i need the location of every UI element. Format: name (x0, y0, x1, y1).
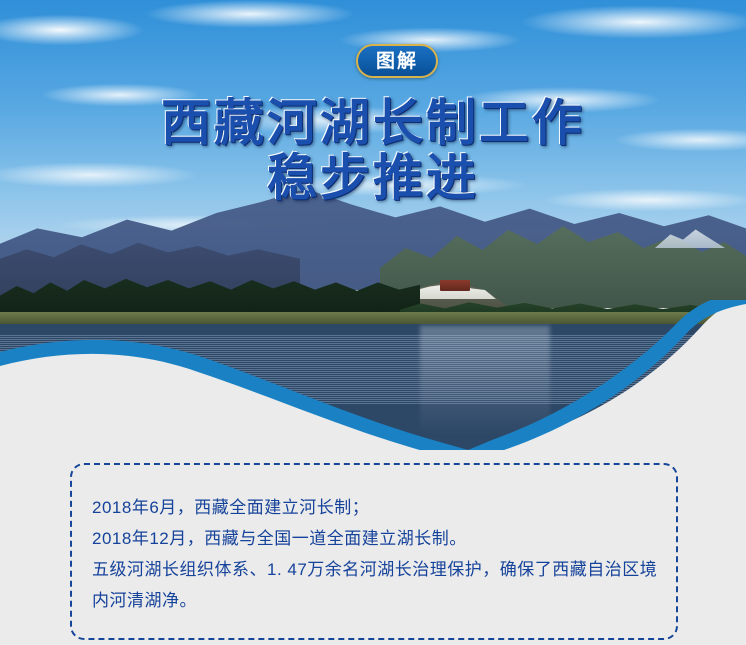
tujie-badge[interactable]: 图解 (356, 44, 438, 78)
potala-palace-red-wing (440, 280, 470, 291)
infographic-poster: 图解 西藏河湖长制工作 稳步推进 2018年6月，西藏全面建立河长制； 2018… (0, 0, 746, 645)
summary-line-1: 2018年6月，西藏全面建立河长制； (92, 492, 668, 523)
page-title: 西藏河湖长制工作 稳步推进 (0, 96, 746, 206)
summary-line-3: 五级河湖长组织体系、1. 47万余名河湖长治理保护，确保了西藏自治区境内河清湖净… (92, 554, 668, 616)
summary-line-2: 2018年12月，西藏与全国一道全面建立湖长制。 (92, 523, 668, 554)
title-line-1: 西藏河湖长制工作 (0, 96, 746, 151)
badge-label: 图解 (376, 52, 418, 71)
summary-text: 2018年6月，西藏全面建立河长制； 2018年12月，西藏与全国一道全面建立湖… (92, 492, 668, 616)
title-line-2: 稳步推进 (0, 151, 746, 206)
wave-divider (0, 300, 746, 450)
